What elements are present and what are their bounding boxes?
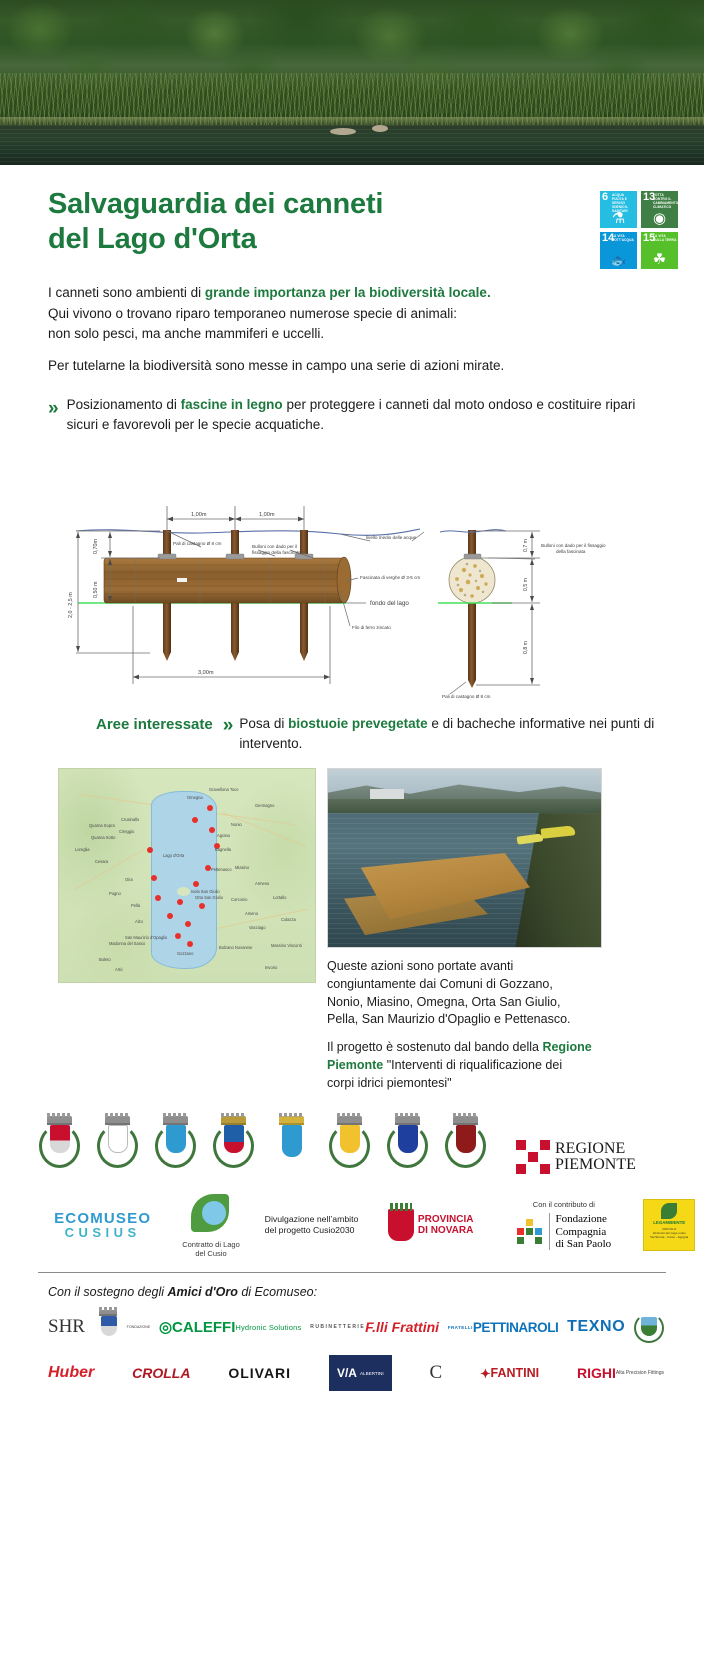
ecomuseo-cusius-logo: ECOMUSEO CUSIUS: [48, 1211, 157, 1240]
action-bullet-fascine: » Posizionamento di fascine in legno per…: [0, 387, 704, 436]
sponsor-fondazione-giacomini-logo: FONDAZIONE: [94, 1309, 151, 1345]
sponsor-huber-logo: Huber: [48, 1355, 94, 1391]
csp-inner: Fondazione Compagnia di San Paolo: [517, 1213, 612, 1250]
vva-sub: ALBERTINI: [360, 1371, 384, 1376]
map-place-label: Gravellona Toce: [209, 787, 239, 792]
page-title: Salvaguardia dei canneti del Lago d'Orta: [48, 187, 600, 257]
fantini-mark: ✦: [480, 1366, 490, 1381]
diagram-label-fascinata: Fascinata di verghe Ø 3-5 cm: [360, 575, 420, 580]
map-place-label: Alzo: [135, 919, 143, 924]
lead-p1-a: I canneti sono ambienti di: [48, 285, 205, 300]
frattini-name: F.lli Frattini: [365, 1319, 439, 1335]
contratto-line2: del Cusio: [195, 1249, 226, 1258]
lake-circle: [202, 1201, 226, 1225]
legambiente-label: LEGAMBIENTE: [653, 1220, 685, 1225]
map-place-label-lake: Lago d'Orta: [163, 853, 184, 858]
crest-pettenasco: [444, 1116, 487, 1174]
caleffi-name: CALEFFI: [172, 1320, 235, 1335]
double-chevron-right-icon: »: [48, 395, 55, 422]
pettinaroli-sub: FRATELLI: [448, 1325, 473, 1330]
leaf-icon: [189, 1192, 233, 1238]
crest-miasino: [154, 1116, 197, 1174]
municipal-crests-row: REGIONE PIEMONTE: [0, 1102, 704, 1174]
sponsor-vva-logo: V/A ALBERTINI: [329, 1355, 392, 1391]
poster-body: Salvaguardia dei canneti del Lago d'Orta…: [0, 165, 704, 1391]
regione-piemonte-logo: REGIONE PIEMONTE: [516, 1140, 636, 1174]
map-place-label: Armeno: [255, 881, 269, 886]
diagram-dim-span1: 1,00m: [191, 512, 207, 518]
crest-omegna: [212, 1116, 255, 1174]
map-place-label: Ameno: [245, 911, 258, 916]
amici-doro-row-2: Huber CROLLA OLIVARI V/A ALBERTINI C ✦FA…: [0, 1345, 704, 1391]
crown-icon: [279, 1116, 304, 1125]
map-place-label: Invorio: [265, 965, 277, 970]
giacomini-caption: FONDAZIONE: [127, 1325, 151, 1330]
diagram-label-bulloni-right-l2: della fascinata: [556, 549, 586, 554]
provincia-line1: PROVINCIA: [418, 1214, 474, 1226]
lead-p3: non solo pesci, ma anche mammiferi e ucc…: [48, 326, 324, 341]
shield-icon: [398, 1125, 418, 1153]
righi-name: RIGHI: [577, 1365, 616, 1381]
fondazione-line1: Fondazione: [556, 1213, 612, 1225]
sponsor-pettinaroli-logo: FRATELLI PETTINAROLI: [448, 1309, 559, 1345]
map-place-label: Oira: [125, 877, 133, 882]
regione-line1: REGIONE: [555, 1141, 636, 1157]
map-place-label: San Maurizio d'Opaglio: [125, 935, 167, 940]
fondazione-line3: di San Paolo: [556, 1238, 612, 1250]
map-place-label: Lortallo: [273, 895, 286, 900]
map-place-label: Pella: [131, 903, 140, 908]
diagram-dim-r07: 0,7 m: [523, 539, 529, 552]
lead-text: I canneti sono ambienti di grande import…: [0, 269, 704, 376]
shield-icon: [340, 1125, 360, 1153]
photo-and-text-column: Queste azioni sono portate avanti congiu…: [316, 768, 602, 1102]
hero-rock: [372, 125, 388, 132]
aree-interessate-label: Aree interessate: [96, 714, 213, 733]
lead-paragraph-1: I canneti sono ambienti di grande import…: [48, 283, 670, 345]
legambiente-badge: LEGAMBIENTE CIRCOLO Gli Amici del Lago o…: [643, 1199, 695, 1251]
crest-pella: [328, 1116, 371, 1174]
amici-doro-row-1: SHR FONDAZIONE ◎ CALEFFI Hydronic Soluti…: [0, 1299, 704, 1345]
contratto-line1: Contratto di Lago: [182, 1240, 240, 1249]
sdg-label: LA VITA SOTT'ACQUA: [612, 234, 636, 242]
bullet1-highlight: fascine in legno: [181, 397, 283, 412]
lake-orta-shape: [151, 791, 217, 969]
action-bullet-text: Posizionamento di fascine in legno per p…: [67, 395, 664, 436]
title-row: Salvaguardia dei canneti del Lago d'Orta…: [0, 165, 704, 269]
diagram-dim-total: 2,0 - 2,5 m: [68, 591, 74, 617]
sostegno-highlight: Amici d'Oro: [168, 1285, 238, 1299]
compagnia-dots-icon: [517, 1219, 543, 1245]
map-image: Omegna Crusinallo Cireggio Agrano Bagnel…: [58, 768, 316, 983]
contratto-di-lago-logo: Contratto di Lago del Cusio: [157, 1192, 264, 1259]
side-text-comuni: Queste azioni sono portate avanti congiu…: [327, 958, 592, 1029]
map-place-label-island: Isola San Giulio: [191, 889, 220, 894]
page-title-line2: del Lago d'Orta: [48, 223, 257, 255]
legambiente-circolo: CIRCOLO Gli Amici del Lago onlus Val Str…: [650, 1227, 688, 1239]
sponsor-consorzio-logo: [634, 1309, 664, 1345]
fascinata-cross-section-svg: Pali di castagno Ø 8 cm 1,00m 1,00m live…: [0, 446, 704, 708]
sostegno-c: di Ecomuseo:: [238, 1285, 317, 1299]
map-place-label: Quarna Sotto: [91, 835, 115, 840]
bullet1-a: Posizionamento di: [67, 397, 181, 412]
map-place-label: Loreglia: [75, 847, 90, 852]
technical-diagram: Pali di castagno Ø 8 cm 1,00m 1,00m live…: [0, 446, 704, 708]
sponsor-c-logo: C: [430, 1355, 443, 1391]
shield-icon: [166, 1125, 186, 1153]
diagram-dim-r05: 0,5 m: [523, 578, 529, 591]
crest-nonio: [96, 1116, 139, 1174]
crest-orta-san-giulio: [270, 1116, 313, 1174]
sdg-label: LOTTA CONTRO IL CAMBIAMENTO CLIMATICO: [653, 193, 677, 209]
aree-a: Posa di: [239, 716, 288, 731]
lead-paragraph-2: Per tutelarne la biodiversità sono messe…: [48, 356, 670, 377]
map-place-label: Crusinallo: [121, 817, 139, 822]
sponsor-texno-logo: TEXNO: [567, 1309, 625, 1345]
map-place-label: Agrano: [217, 833, 230, 838]
divulgazione-line1: Divulgazione nell’ambito: [265, 1214, 359, 1226]
regione-piemonte-text: REGIONE PIEMONTE: [555, 1141, 636, 1174]
sdg-glyph: ⚗: [600, 211, 637, 226]
fantini-name: FANTINI: [491, 1366, 540, 1380]
sponsor-righi-logo: RIGHI Alta Precision Fittings: [577, 1355, 664, 1391]
partner-logos-row: ECOMUSEO CUSIUS Contratto di Lago del Cu…: [0, 1174, 704, 1260]
diagram-dim-r08: 0,8 m: [523, 641, 529, 654]
provincia-line2: DI NOVARA: [418, 1225, 474, 1237]
map-place-label: Pogno: [109, 891, 121, 896]
shield-icon: [224, 1125, 244, 1153]
sponsor-shr-logo: SHR: [48, 1309, 85, 1345]
map-place-label: Massino Visconti: [271, 943, 302, 948]
diagram-label-livello: livello medio delle acque: [366, 535, 416, 540]
diagram-label-filo: Filo di ferro zincato: [352, 625, 391, 630]
side-text-regione-a: Il progetto è sostenuto dal bando della: [327, 1040, 542, 1054]
map-place-label: Gozzano: [177, 951, 193, 956]
consorzio-crest-icon: [634, 1310, 664, 1344]
biostuoia-photo: [327, 768, 602, 948]
vva-name: V/A: [337, 1366, 357, 1380]
lead-p1-highlight: grande importanza per la biodiversità lo…: [205, 285, 491, 300]
sdg-label: LA VITA SULLA TERRA: [653, 234, 677, 242]
swan-icon: [661, 1203, 677, 1219]
shield-icon: [50, 1125, 70, 1153]
double-chevron-right-icon: »: [223, 714, 230, 737]
provincia-inner: PROVINCIA DI NOVARA: [388, 1209, 474, 1241]
legambiente-logo: LEGAMBIENTE CIRCOLO Gli Amici del Lago o…: [634, 1199, 704, 1251]
provincia-text: PROVINCIA DI NOVARA: [418, 1214, 474, 1237]
side-text-regione: Il progetto è sostenuto dal bando della …: [327, 1039, 592, 1092]
sdg-number: 6: [602, 192, 608, 203]
map-place-label: Germagno: [255, 803, 274, 808]
map-place-label: Pettenasco: [211, 867, 231, 872]
aree-highlight: biostuoie prevegetate: [288, 716, 428, 731]
sdg-goal-14-icon: 14 LA VITA SOTT'ACQUA 🐟: [600, 232, 637, 269]
diagram-dim-070: 0,70m: [93, 538, 99, 553]
map-place-label: Orta San Giulio: [195, 895, 223, 900]
caleffi-mark: ◎: [159, 1320, 172, 1335]
shield-icon: [101, 1316, 117, 1336]
ecomuseo-label: ECOMUSEO: [54, 1211, 151, 1227]
sponsor-crolla-logo: CROLLA: [132, 1355, 190, 1391]
sdg-goal-13-icon: 13 LOTTA CONTRO IL CAMBIAMENTO CLIMATICO…: [641, 191, 678, 228]
map-place-label: Nonio: [231, 822, 242, 827]
sdg-icon-grid: 6 ACQUA PULITA E SERVIZI IGIENICO-SANITA…: [600, 191, 678, 269]
media-row: Omegna Crusinallo Cireggio Agrano Bagnel…: [0, 754, 704, 1102]
wood-fascine-bundle: [104, 557, 351, 603]
giacomini-crest-icon: [94, 1310, 124, 1344]
diagram-label-bulloni-right-l1: Bulloni con dado per il fissaggio: [541, 543, 606, 548]
map-place-label: Cireggio: [119, 829, 134, 834]
caleffi-tagline: Hydronic Solutions: [235, 1324, 301, 1332]
cusius-label: CUSIUS: [65, 1226, 141, 1240]
hero-reedbed: [0, 73, 704, 129]
righi-sub: Alta Precision Fittings: [616, 1370, 664, 1376]
divulgazione-text: Divulgazione nell’ambito del progetto Cu…: [265, 1214, 388, 1237]
map-place-label: Madonna del Sasso: [109, 941, 145, 946]
cross-section-right: [438, 529, 540, 693]
crest-san-maurizio-dopaglio: [386, 1116, 429, 1174]
sdg-glyph: ◉: [641, 211, 678, 226]
diagram-label-pali-top: Pali di castagno Ø 8 cm: [173, 541, 222, 546]
sponsor-olivari-logo: OLIVARI: [228, 1355, 291, 1391]
fondazione-line2: Compagnia: [556, 1226, 612, 1238]
sostegno-a: Con il sostegno degli: [48, 1285, 168, 1299]
sostegno-line: Con il sostegno degli Amici d'Oro di Eco…: [0, 1273, 704, 1299]
sdg-glyph: 🐟: [600, 254, 637, 267]
map-place-label: Omegna: [187, 795, 203, 800]
pettinaroli-name: PETTINAROLI: [473, 1320, 559, 1335]
contratto-caption: Contratto di Lago del Cusio: [182, 1240, 240, 1259]
diagram-label-bulloni-l1: Bulloni con dado per il: [252, 544, 297, 549]
sponsor-caleffi-logo: ◎ CALEFFI Hydronic Solutions: [159, 1309, 302, 1345]
fondazione-compagnia-san-paolo-logo: Con il contributo di Fondazione Compagni…: [493, 1200, 634, 1250]
sdg-goal-6-icon: 6 ACQUA PULITA E SERVIZI IGIENICO-SANITA…: [600, 191, 637, 228]
sdg-goal-15-icon: 15 LA VITA SULLA TERRA ☘: [641, 232, 678, 269]
con-contributo-label: Con il contributo di: [533, 1200, 595, 1209]
map-place-label: Bolzano Novarese: [219, 945, 252, 950]
shield-icon: [641, 1317, 657, 1336]
frattini-sub: RUBINETTERIE: [310, 1324, 365, 1330]
provincia-di-novara-logo: PROVINCIA DI NOVARA: [388, 1209, 493, 1241]
aree-interessate-row: Aree interessate » Posa di biostuoie pre…: [0, 708, 704, 755]
giacomini-text: FONDAZIONE: [127, 1325, 151, 1329]
map-place-label: Miasino: [235, 865, 249, 870]
map-place-label: Boleto: [99, 957, 111, 962]
map-place-label: Vacciago: [249, 925, 266, 930]
page-title-line1: Salvaguardia dei canneti: [48, 188, 383, 220]
diagram-dim-050: 0,50 m: [93, 581, 99, 598]
diagram-label-pali-bottom: Pali di castagno Ø 8 cm: [442, 694, 491, 699]
map-place-label: Artò: [115, 967, 123, 972]
shield-icon: [456, 1125, 476, 1153]
lead-p2: Qui vivono o trovano riparo temporaneo n…: [48, 306, 457, 321]
provincia-shield-icon: [388, 1209, 414, 1241]
hero-photo: [0, 0, 704, 165]
sponsor-fantini-logo: ✦FANTINI: [480, 1355, 539, 1391]
sdg-glyph: ☘: [641, 252, 678, 267]
side-text-block: Queste azioni sono portate avanti congiu…: [327, 948, 602, 1092]
divulgazione-line2: del progetto Cusio2030: [265, 1225, 355, 1237]
lega-line4: Val Strona - Cusio - Agogna: [650, 1235, 688, 1239]
shield-icon: [108, 1125, 128, 1153]
fondazione-text: Fondazione Compagnia di San Paolo: [549, 1213, 612, 1250]
map-place-label: Colazza: [281, 917, 296, 922]
shield-icon: [282, 1125, 302, 1157]
regione-line2: PIEMONTE: [555, 1157, 636, 1173]
map-place-label: Cesara: [95, 859, 108, 864]
sponsor-frattini-logo: RUBINETTERIE F.lli Frattini: [310, 1309, 439, 1345]
piemonte-flag-icon: [516, 1140, 550, 1174]
hero-rock: [330, 128, 356, 135]
isola-san-giulio: [177, 887, 190, 896]
map-place-label: Bagnella: [215, 847, 231, 852]
diagram-dim-span2: 1,00m: [259, 512, 275, 518]
diagram-label-fondo: fondo del lago: [370, 600, 409, 607]
diagram-dim-base: 3,00m: [198, 670, 214, 676]
map-place-label: Quarna Sopra: [89, 823, 115, 828]
map-place-label: Corconio: [231, 897, 247, 902]
aree-interessate-text: Posa di biostuoie prevegetate e di bache…: [239, 714, 658, 755]
crest-gozzano: [38, 1116, 81, 1174]
diagram-label-bulloni-l2: fissaggio della fascinata: [252, 550, 301, 555]
